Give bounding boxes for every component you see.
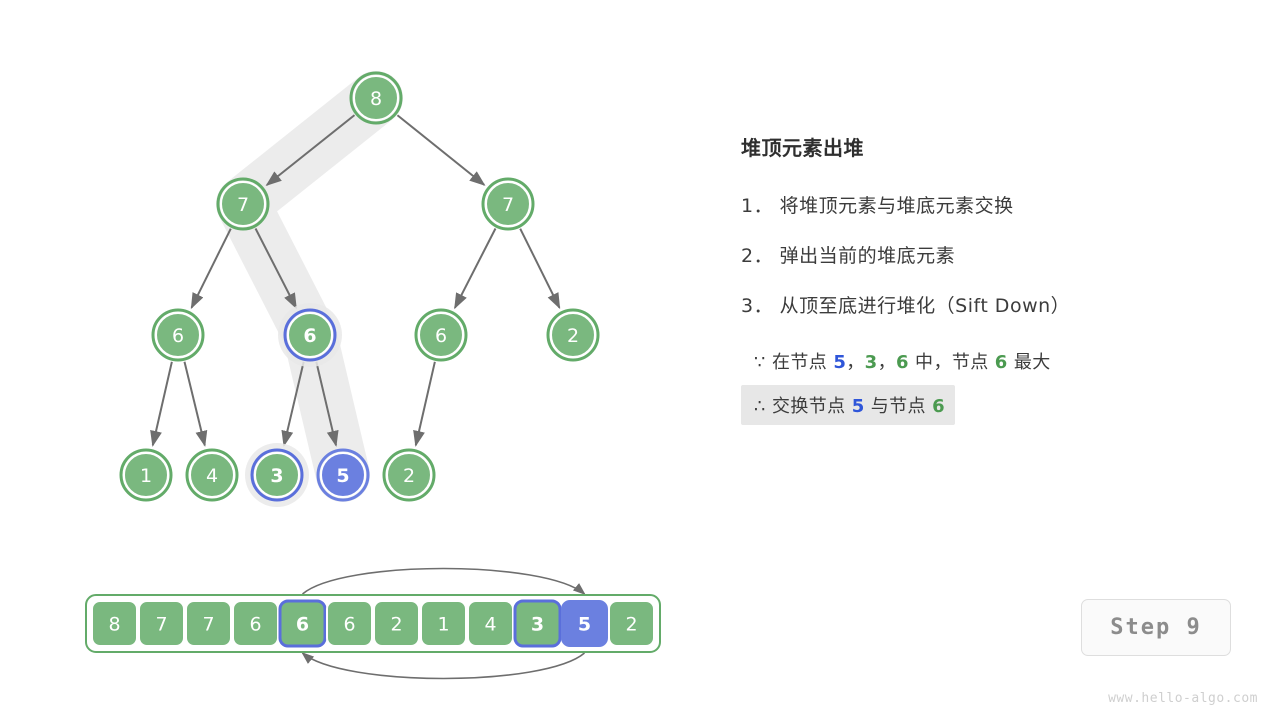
array-cell: 2 (609, 601, 654, 646)
value-green: 6 (932, 396, 945, 417)
reason-text: 交换节点 (766, 396, 852, 417)
array-cell-value: 5 (578, 614, 591, 636)
value-blue: 5 (833, 352, 846, 373)
array-cell: 1 (421, 601, 466, 646)
reason-text: 在节点 (766, 352, 833, 373)
value-green: 6 (995, 352, 1008, 373)
array-cell-value: 6 (249, 614, 261, 636)
step-badge-label: Step 9 (1110, 615, 1201, 640)
array-cell: 2 (374, 601, 419, 646)
array-cell-value: 4 (484, 614, 496, 636)
array-cell-value: 7 (202, 614, 214, 636)
step-list: 1． 将堆顶元素与堆底元素交换2． 弹出当前的堆底元素3． 从顶至底进行堆化（S… (741, 191, 1241, 318)
step-line-1: 1． 将堆顶元素与堆底元素交换 (741, 191, 1241, 218)
array-representation-svg: 877666214352 (0, 0, 700, 720)
reason-line: ∵ 在节点 5，3，6 中，节点 6 最大 (741, 341, 1061, 381)
array-cell: 6 (233, 601, 278, 646)
value-green: 6 (896, 352, 909, 373)
array-cell-value: 6 (343, 614, 355, 636)
array-cell-value: 2 (390, 614, 402, 636)
reason-text: ， (846, 352, 864, 373)
step-line-3: 3． 从顶至底进行堆化（Sift Down） (741, 291, 1241, 318)
reason-row-2: ∴ 交换节点 5 与节点 6 (741, 385, 1241, 425)
step-badge: Step 9 (1081, 599, 1231, 656)
array-cell: 6 (327, 601, 372, 646)
reason-text: ， (878, 352, 896, 373)
array-cell: 7 (139, 601, 184, 646)
reason-text: 最大 (1008, 352, 1051, 373)
step-line-2: 2． 弹出当前的堆底元素 (741, 241, 1241, 268)
reason-text: 与节点 (865, 396, 932, 417)
reason-text: 中，节点 (909, 352, 995, 373)
array-cell-value: 2 (625, 614, 637, 636)
array-cells: 877666214352 (92, 601, 654, 646)
array-cell: 7 (186, 601, 231, 646)
array-cell-value: 1 (437, 614, 449, 636)
array-cell: 8 (92, 601, 137, 646)
value-green: 3 (865, 352, 878, 373)
reason-line-highlighted: ∴ 交换节点 5 与节点 6 (741, 385, 955, 425)
explanation-panel: 堆顶元素出堆 1． 将堆顶元素与堆底元素交换2． 弹出当前的堆底元素3． 从顶至… (741, 132, 1241, 429)
page-title: 堆顶元素出堆 (741, 132, 1241, 161)
heap-diagram-panel: 877666214352 877666214352 (0, 0, 700, 720)
swap-arrow-backward (303, 653, 585, 679)
array-cell: 3 (515, 601, 560, 646)
reason-row-1: ∵ 在节点 5，3，6 中，节点 6 最大 (741, 341, 1241, 381)
value-blue: 5 (852, 396, 865, 417)
logic-mark-icon: ∵ (754, 352, 766, 373)
array-cell-value: 3 (531, 614, 544, 636)
array-cell-value: 7 (155, 614, 167, 636)
array-cell: 6 (280, 601, 325, 646)
array-cell: 5 (562, 601, 607, 646)
array-cell: 4 (468, 601, 513, 646)
watermark: www.hello-algo.com (1108, 691, 1258, 706)
array-cell-value: 6 (296, 614, 309, 636)
reason-list: ∵ 在节点 5，3，6 中，节点 6 最大∴ 交换节点 5 与节点 6 (741, 341, 1241, 425)
logic-mark-icon: ∴ (754, 396, 766, 417)
swap-arrow-forward (303, 569, 585, 595)
array-cell-value: 8 (108, 614, 120, 636)
